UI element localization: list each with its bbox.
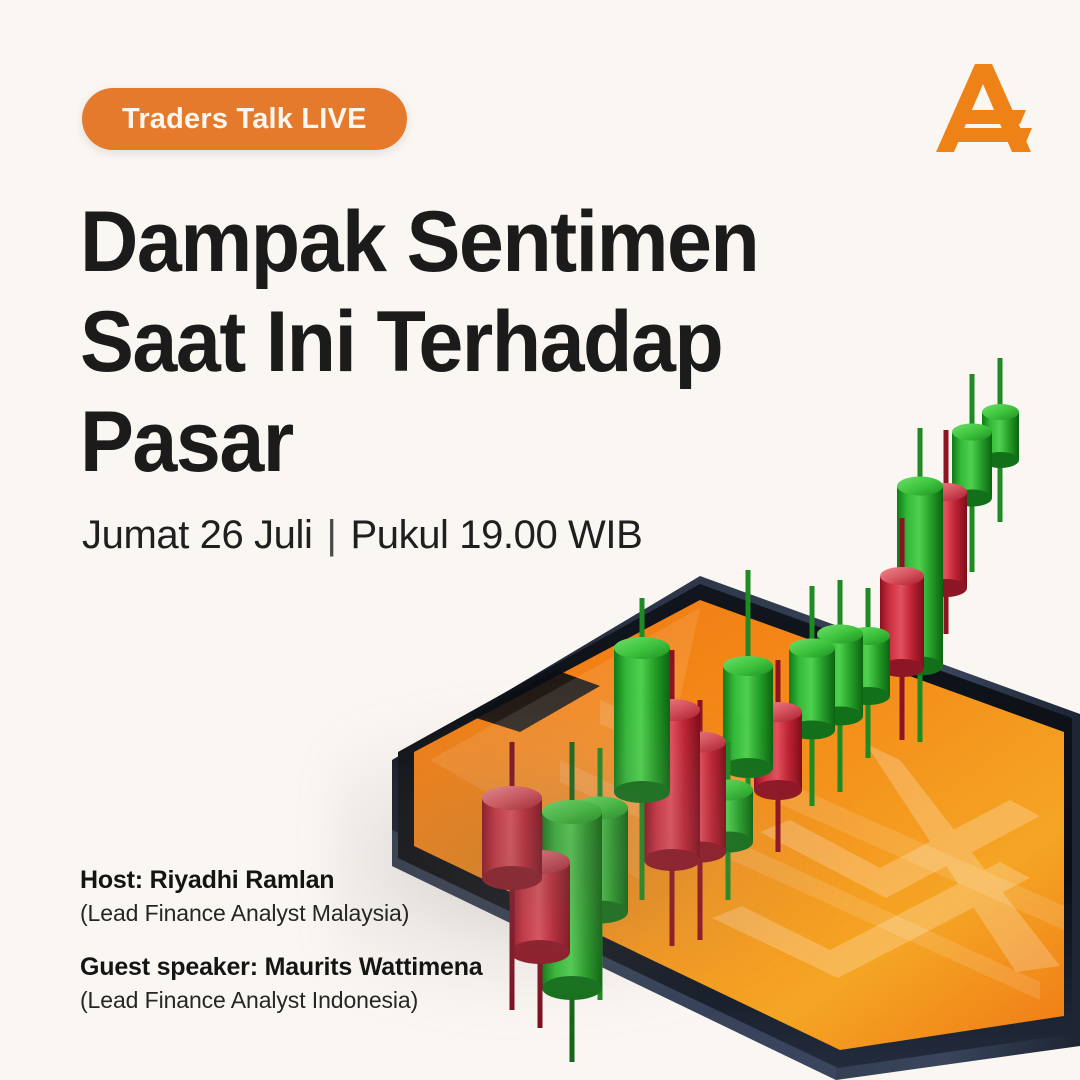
candle-down-7 [674, 700, 726, 940]
promo-poster: Traders Talk LIVE Dampak Sentimen Saat I… [0, 0, 1080, 1080]
guest-role: (Lead Finance Analyst Indonesia) [80, 987, 483, 1014]
smartphone-mockup [392, 576, 1080, 1080]
candle-up-17 [952, 374, 992, 572]
speaker-credits: Host: Riyadhi Ramlan (Lead Finance Analy… [80, 866, 483, 1014]
datetime-divider: | [326, 513, 336, 558]
event-datetime: Jumat 26 Juli | Pukul 19.00 WIB [82, 513, 642, 558]
candle-up-12 [817, 580, 863, 792]
credit-host: Host: Riyadhi Ramlan (Lead Finance Analy… [80, 866, 483, 927]
headline-line-3: Pasar [80, 392, 776, 492]
live-badge[interactable]: Traders Talk LIVE [82, 88, 407, 150]
headline-line-2: Saat Ini Terhadap [80, 292, 776, 392]
candle-up-9 [723, 570, 773, 840]
candle-up-4 [572, 748, 628, 1000]
headline-line-1: Dampak Sentimen [80, 192, 776, 292]
candle-up-3 [542, 742, 602, 1062]
candle-up-8 [703, 742, 753, 900]
credit-guest: Guest speaker: Maurits Wattimena (Lead F… [80, 953, 483, 1014]
candle-up-15 [897, 428, 943, 742]
candle-up-13 [846, 588, 890, 758]
candle-up-18 [982, 358, 1019, 522]
guest-name: Guest speaker: Maurits Wattimena [80, 953, 483, 982]
candle-down-6 [644, 650, 700, 946]
event-date: Jumat 26 Juli [82, 513, 312, 558]
page-title: Dampak Sentimen Saat Ini Terhadap Pasar [80, 192, 820, 492]
host-role: (Lead Finance Analyst Malaysia) [80, 900, 483, 927]
brand-logo [932, 60, 1038, 164]
candle-down-16 [925, 430, 967, 634]
candle-up-5 [614, 598, 670, 900]
host-name: Host: Riyadhi Ramlan [80, 866, 483, 895]
candle-up-11 [789, 586, 835, 806]
event-time: Pukul 19.00 WIB [350, 513, 642, 558]
live-badge-label: Traders Talk LIVE [122, 103, 367, 136]
candle-down-2 [510, 818, 570, 1028]
ascendex-a-logo-icon [932, 60, 1038, 164]
candle-down-14 [880, 518, 924, 740]
screen-watermark-a-logo [712, 744, 1060, 978]
candle-down-10 [754, 660, 802, 852]
candle-down-1 [482, 742, 542, 1010]
